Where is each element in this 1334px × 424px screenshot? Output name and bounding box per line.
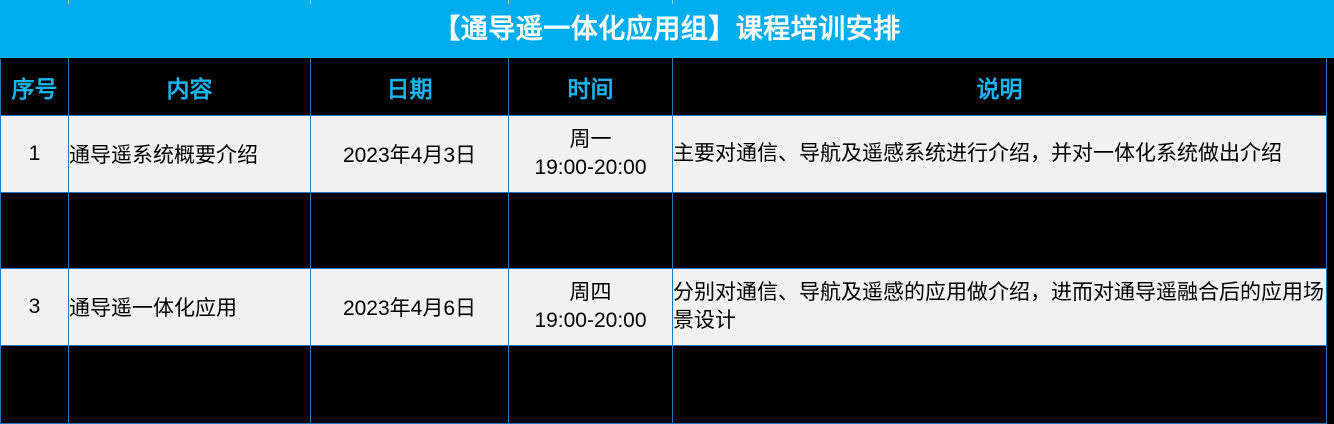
cell-date bbox=[311, 193, 509, 269]
schedule-table-container: 序号 内容 日期 时间 说明 1 通导遥系统概要介绍 2023年4月3日 周一 bbox=[0, 58, 1334, 422]
cell-content bbox=[69, 346, 311, 424]
cell-description bbox=[673, 193, 1327, 269]
column-tick-mark bbox=[310, 0, 311, 4]
cell-description: 分别对通信、导航及遥感的应用做介绍，进而对通导遥融合后的应用场景设计 bbox=[673, 269, 1327, 346]
cell-time-weekday: 周一 bbox=[509, 126, 672, 154]
column-header-time: 时间 bbox=[509, 59, 673, 116]
page-title-banner: 【通导遥一体化应用组】课程培训安排 bbox=[0, 0, 1334, 58]
cell-date bbox=[311, 346, 509, 424]
cell-description bbox=[673, 346, 1327, 424]
table-header-row: 序号 内容 日期 时间 说明 bbox=[1, 59, 1327, 116]
cell-index: 3 bbox=[1, 269, 69, 346]
column-tick-mark bbox=[68, 0, 69, 4]
cell-time-range: 19:00-20:00 bbox=[509, 307, 672, 335]
column-header-desc: 说明 bbox=[673, 59, 1327, 116]
cell-content bbox=[69, 193, 311, 269]
cell-index: 1 bbox=[1, 116, 69, 193]
column-header-content: 内容 bbox=[69, 59, 311, 116]
table-row: 3 通导遥一体化应用 2023年4月6日 周四 19:00-20:00 分别对通… bbox=[1, 269, 1327, 346]
cell-content: 通导遥系统概要介绍 bbox=[69, 116, 311, 193]
screenshot-root: 【通导遥一体化应用组】课程培训安排 序号 内容 日期 时间 说明 bbox=[0, 0, 1334, 422]
cell-index bbox=[1, 346, 69, 424]
table-row: 1 通导遥系统概要介绍 2023年4月3日 周一 19:00-20:00 主要对… bbox=[1, 116, 1327, 193]
cell-index bbox=[1, 193, 69, 269]
cell-date: 2023年4月3日 bbox=[311, 116, 509, 193]
column-tick-mark bbox=[508, 0, 509, 4]
column-header-date: 日期 bbox=[311, 59, 509, 116]
column-tick-mark bbox=[672, 0, 673, 4]
page-title: 【通导遥一体化应用组】课程培训安排 bbox=[433, 16, 901, 43]
cell-time-range: 19:00-20:00 bbox=[509, 154, 672, 182]
cell-time: 周一 19:00-20:00 bbox=[509, 116, 673, 193]
cell-description: 主要对通信、导航及遥感系统进行介绍，并对一体化系统做出介绍 bbox=[673, 116, 1327, 193]
cell-time bbox=[509, 193, 673, 269]
cell-time: 周四 19:00-20:00 bbox=[509, 269, 673, 346]
cell-time-weekday: 周四 bbox=[509, 279, 672, 307]
cell-date: 2023年4月6日 bbox=[311, 269, 509, 346]
cell-content: 通导遥一体化应用 bbox=[69, 269, 311, 346]
column-header-index: 序号 bbox=[1, 59, 69, 116]
cell-time bbox=[509, 346, 673, 424]
table-row-redacted bbox=[1, 346, 1327, 424]
table-row-redacted bbox=[1, 193, 1327, 269]
schedule-table: 序号 内容 日期 时间 说明 1 通导遥系统概要介绍 2023年4月3日 周一 bbox=[0, 58, 1327, 424]
